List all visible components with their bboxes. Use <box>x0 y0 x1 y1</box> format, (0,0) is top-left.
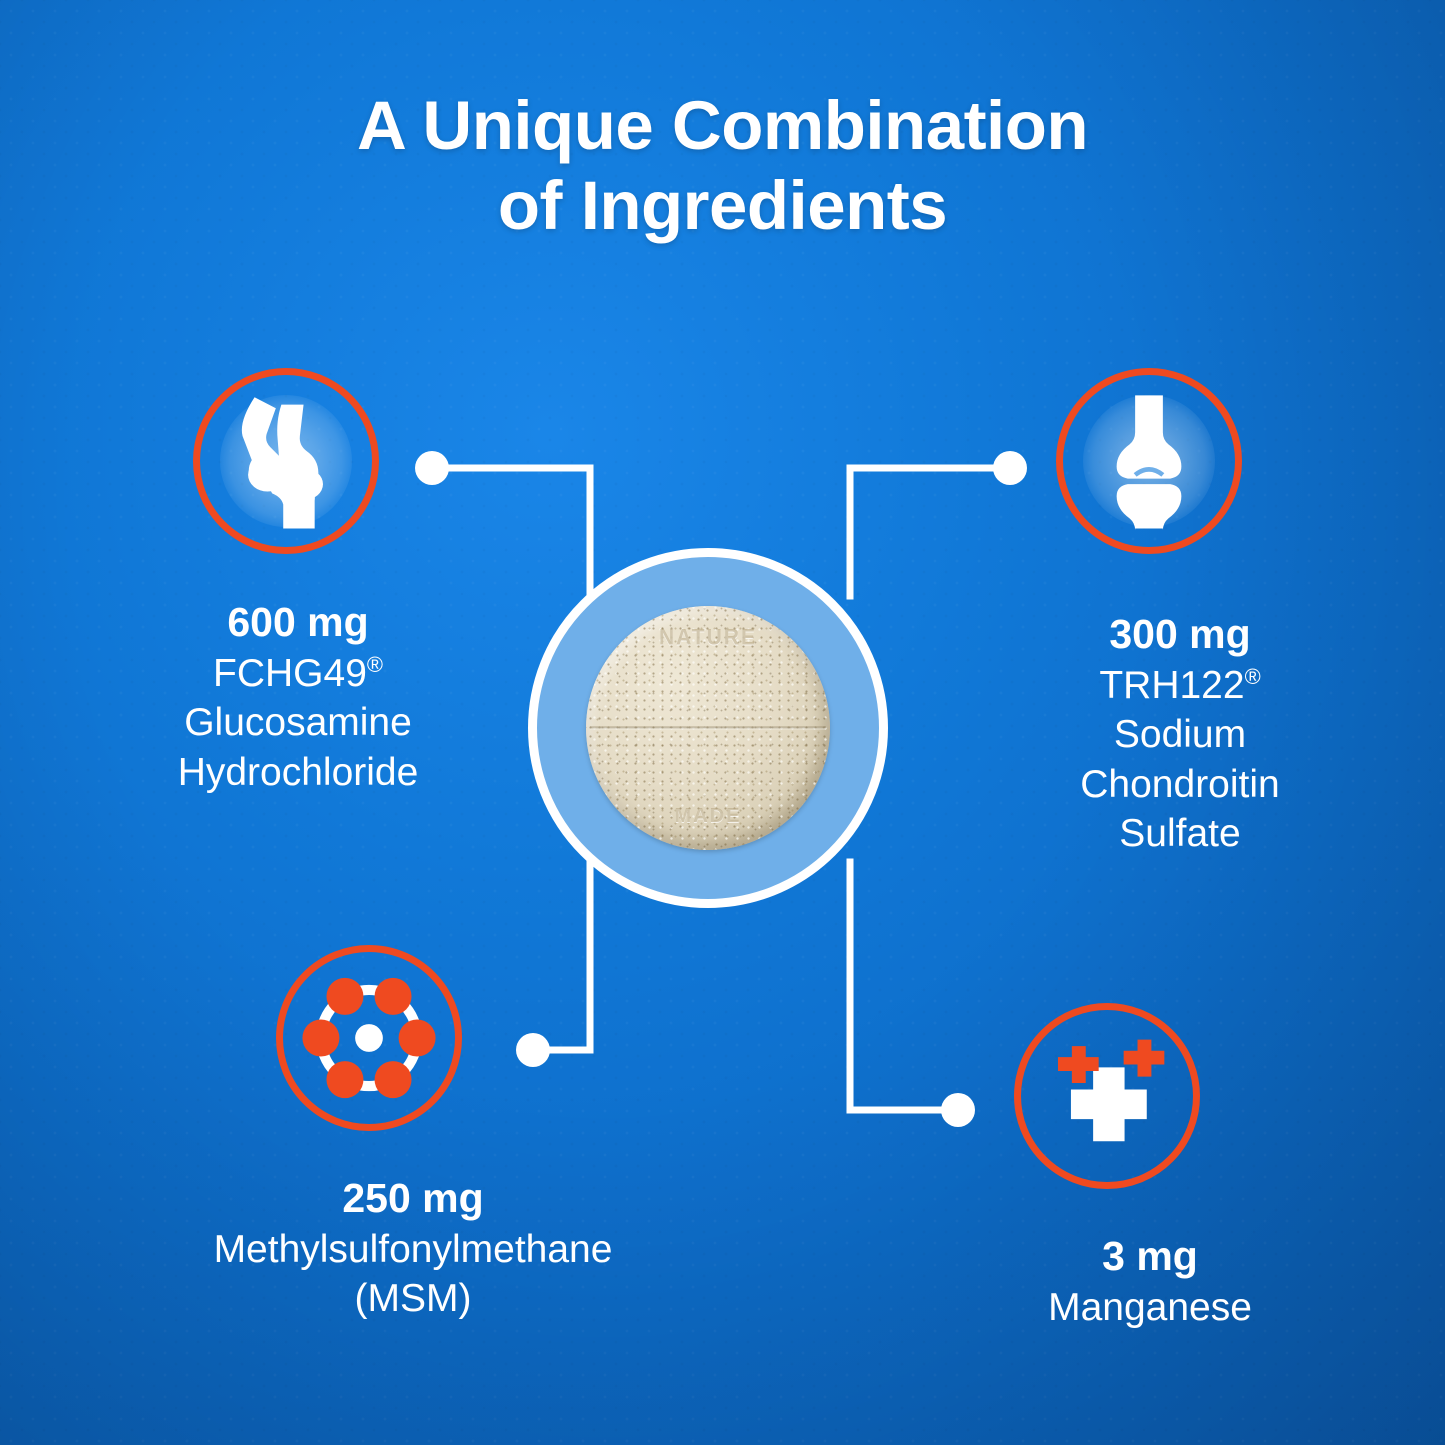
knee-joint-icon <box>200 375 372 547</box>
connector-dot-top-right <box>993 451 1027 485</box>
tablet-image: NATURE MADE <box>586 606 830 850</box>
ingredient-description: FCHG49® Glucosamine Hydrochloride <box>63 649 533 796</box>
bone-joint-icon <box>1063 375 1235 547</box>
ingredient-icon-glucosamine[interactable] <box>193 368 379 554</box>
ingredient-description: Methylsulfonylmethane (MSM) <box>58 1225 768 1323</box>
ingredient-label-chondroitin: 300 mg TRH122® Sodium Chondroitin Sulfat… <box>980 608 1380 858</box>
connector-top-right-path <box>850 468 1002 596</box>
ingredient-label-manganese: 3 mg Manganese <box>920 1230 1380 1332</box>
ingredient-line: Hydrochloride <box>63 748 533 797</box>
connector-top-left-path <box>440 468 590 596</box>
molecule-icon <box>283 952 455 1124</box>
connector-dot-top-left <box>415 451 449 485</box>
ingredient-line: Methylsulfonylmethane <box>58 1225 768 1274</box>
ingredient-line: Sodium <box>980 710 1380 759</box>
ingredient-amount: 600 mg <box>63 596 533 649</box>
ingredient-name-trademarked: FCHG49® <box>63 649 533 698</box>
ingredient-icon-chondroitin[interactable] <box>1056 368 1242 554</box>
ingredient-line: Sulfate <box>980 809 1380 858</box>
ingredient-description: Manganese <box>920 1283 1380 1332</box>
connector-bottom-left-path <box>541 862 590 1050</box>
connector-dot-bottom-left <box>516 1033 550 1067</box>
ingredient-name-trademarked: TRH122® <box>980 661 1380 710</box>
ingredient-label-glucosamine: 600 mg FCHG49® Glucosamine Hydrochloride <box>63 596 533 797</box>
center-tablet-circle: NATURE MADE <box>528 548 888 908</box>
ingredient-label-msm: 250 mg Methylsulfonylmethane (MSM) <box>58 1172 768 1324</box>
connector-bottom-right-path <box>850 862 950 1110</box>
ingredient-amount: 3 mg <box>920 1230 1380 1283</box>
ingredient-description: TRH122® Sodium Chondroitin Sulfate <box>980 661 1380 858</box>
ingredient-line: (MSM) <box>58 1274 768 1323</box>
ingredient-icon-manganese[interactable] <box>1014 1003 1200 1189</box>
ingredient-icon-msm[interactable] <box>276 945 462 1131</box>
ingredient-amount: 250 mg <box>58 1172 768 1225</box>
infographic-canvas: A Unique Combination of Ingredients <box>0 0 1445 1445</box>
tablet-score-line <box>590 727 826 730</box>
ingredient-amount: 300 mg <box>980 608 1380 661</box>
ingredient-line: Chondroitin <box>980 760 1380 809</box>
connector-dot-bottom-right <box>941 1093 975 1127</box>
medical-cross-icon <box>1021 1010 1193 1182</box>
ingredient-line: Glucosamine <box>63 698 533 747</box>
ingredient-line: Manganese <box>920 1283 1380 1332</box>
